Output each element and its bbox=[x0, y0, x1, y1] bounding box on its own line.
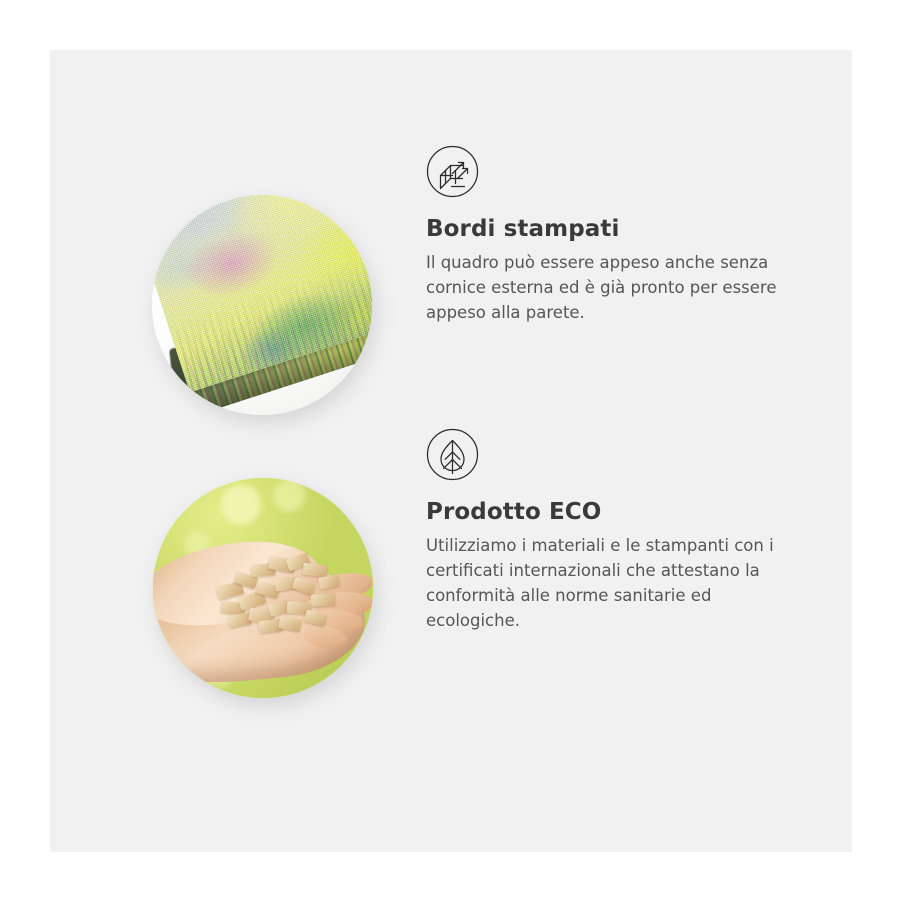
feature-title: Prodotto ECO bbox=[426, 499, 794, 527]
feature-copy-prodotto-eco: Prodotto ECO Utilizziamo i materiali e l… bbox=[426, 428, 794, 633]
canvas-corner-photo bbox=[152, 195, 372, 415]
feature-title: Bordi stampati bbox=[426, 216, 794, 244]
feature-bordi-stampati: Bordi stampati Il quadro può essere appe… bbox=[100, 145, 800, 415]
wood-chip bbox=[311, 593, 336, 607]
wood-chip bbox=[302, 563, 327, 577]
wrapped-canvas-edge-icon bbox=[426, 145, 479, 198]
wood-chip-pile bbox=[215, 554, 339, 632]
feature-description: Il quadro può essere appeso anche senza … bbox=[426, 250, 794, 325]
canvas-corner-illustration bbox=[152, 195, 372, 415]
feature-description: Utilizziamo i materiali e le stampanti c… bbox=[426, 533, 794, 633]
feature-prodotto-eco: Prodotto ECO Utilizziamo i materiali e l… bbox=[100, 428, 800, 698]
wood-chip bbox=[304, 609, 327, 626]
leaf-icon bbox=[426, 428, 479, 481]
hands-wood-chips-photo bbox=[153, 478, 373, 698]
product-feature-page: Bordi stampati Il quadro può essere appe… bbox=[0, 0, 900, 900]
wood-chip bbox=[318, 574, 340, 590]
feature-copy-bordi-stampati: Bordi stampati Il quadro può essere appe… bbox=[426, 145, 794, 325]
wood-chip bbox=[292, 577, 317, 596]
